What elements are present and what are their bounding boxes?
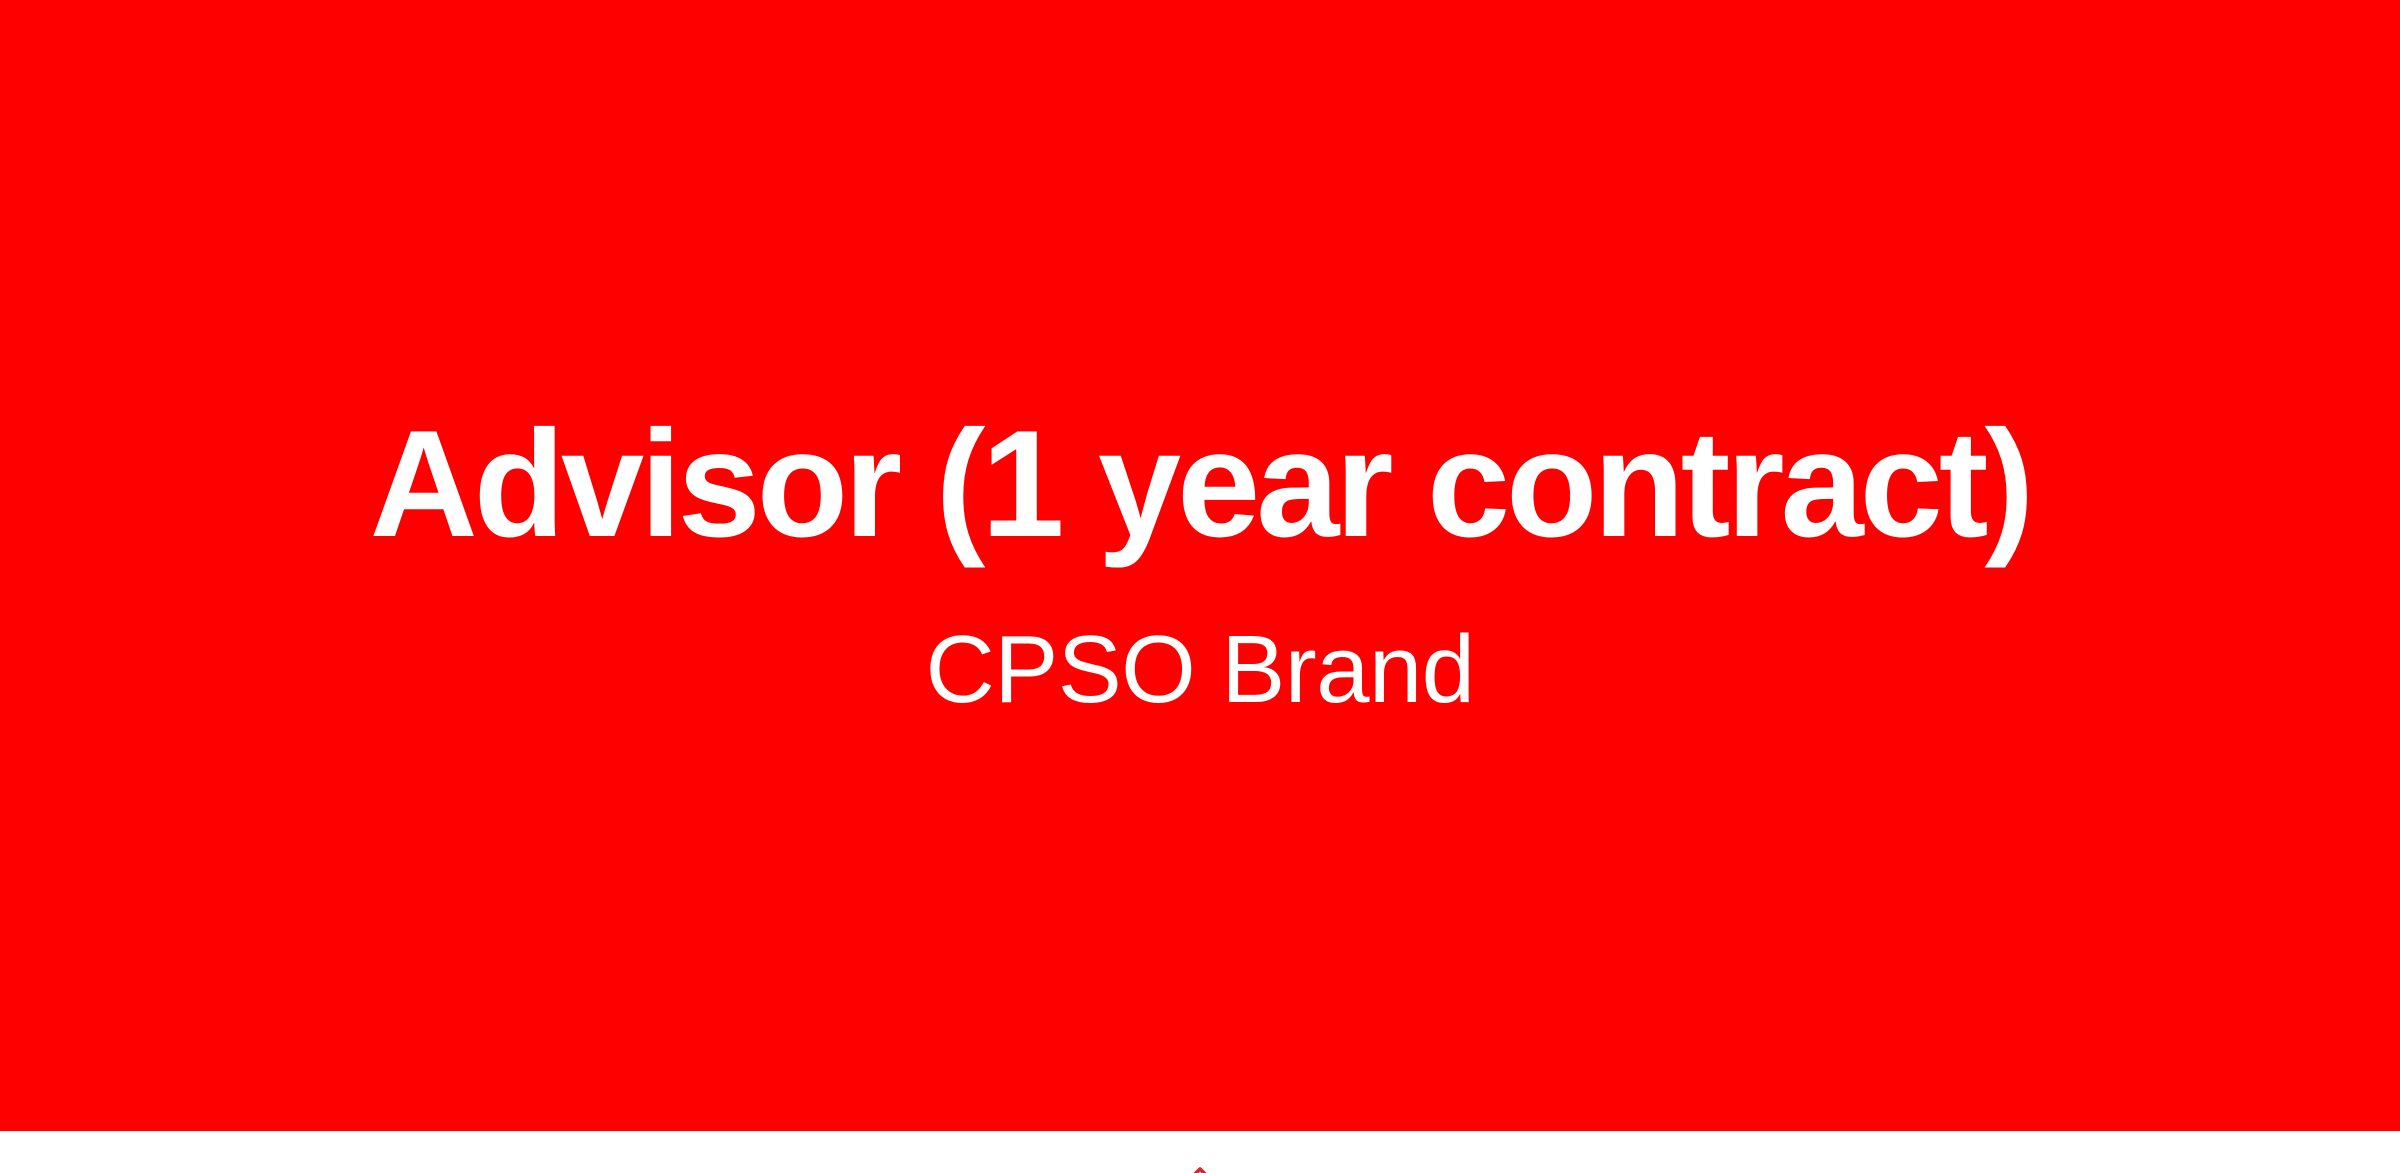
job-posting-hero-page: Advisor (1 year contract) CPSO Brand — [0, 0, 2400, 1173]
hero-banner: Advisor (1 year contract) CPSO Brand — [0, 0, 2400, 1131]
page-subtitle: CPSO Brand — [926, 622, 1475, 718]
page-title: Advisor (1 year contract) — [370, 408, 2031, 560]
hero-content: Advisor (1 year contract) CPSO Brand — [0, 0, 2400, 1131]
scroll-to-top-button[interactable] — [1172, 1158, 1228, 1173]
chevron-up-icon — [1183, 1158, 1217, 1173]
